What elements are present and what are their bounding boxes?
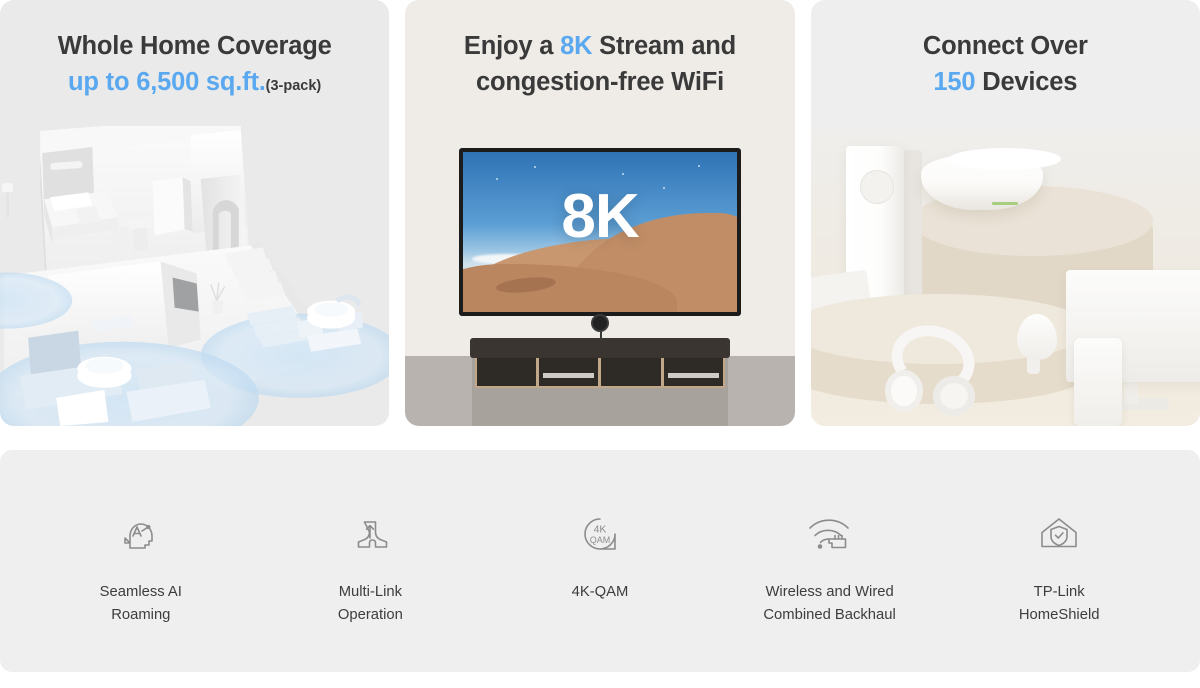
card-2-heading-line2: congestion-free WiFi (405, 64, 794, 100)
card-1-heading: Whole Home Coverage up to 6,500 sq.ft.(3… (0, 0, 389, 100)
smartphone-device (1074, 338, 1122, 426)
card-connect-devices[interactable]: Connect Over 150 Devices (811, 0, 1200, 426)
game-console-side (904, 150, 922, 311)
router-led-indicator (992, 202, 1018, 205)
headphone-earcup (933, 376, 975, 416)
feature-tp-link-homeshield[interactable]: TP-Link HomeShield (944, 506, 1174, 628)
feature-label-line2: Combined Backhaul (763, 604, 895, 627)
console-cubby (664, 357, 723, 386)
devices-illustration (811, 126, 1200, 426)
feature-card-row: Whole Home Coverage up to 6,500 sq.ft.(3… (0, 0, 1200, 426)
console-cubby (539, 357, 598, 386)
badge-bottom-text: QAM (590, 535, 611, 545)
feature-label-line1: TP-Link (1019, 581, 1100, 604)
feature-combined-backhaul[interactable]: Wireless and Wired Combined Backhaul (715, 506, 945, 628)
card-8k-stream[interactable]: Enjoy a 8K Stream and congestion-free Wi… (405, 0, 794, 426)
feature-label-line1: Seamless AI (100, 581, 182, 604)
card-2-text-after: Stream and (592, 32, 736, 60)
card-3-devices-text: Devices (975, 68, 1077, 96)
feature-label-line2: Roaming (100, 604, 182, 627)
feature-4k-qam[interactable]: 4K QAM 4K-QAM (485, 506, 715, 604)
feature-label: 4K-QAM (572, 581, 629, 604)
product-feature-page: Whole Home Coverage up to 6,500 sq.ft.(3… (0, 0, 1200, 688)
tv-screen: 8K (463, 152, 736, 312)
card-3-heading: Connect Over 150 Devices (811, 0, 1200, 100)
card-1-heading-line2: up to 6,500 sq.ft.(3-pack) (0, 64, 389, 100)
feature-seamless-ai-roaming[interactable]: Seamless AI Roaming (26, 506, 256, 628)
screen-resolution-label: 8K (463, 186, 736, 248)
console-cubby (477, 357, 536, 386)
card-whole-home-coverage[interactable]: Whole Home Coverage up to 6,500 sq.ft.(3… (0, 0, 389, 426)
feature-label: TP-Link HomeShield (1019, 581, 1100, 628)
card-3-heading-line1: Connect Over (811, 28, 1200, 64)
card-2-accent-text: 8K (560, 32, 592, 60)
headphone-earcup (885, 370, 923, 412)
feature-label: Seamless AI Roaming (100, 581, 182, 628)
tv-camera-icon (591, 314, 609, 332)
card-1-pack-note: (3-pack) (266, 78, 322, 94)
card-2-heading: Enjoy a 8K Stream and congestion-free Wi… (405, 0, 794, 100)
card-3-heading-line2: 150 Devices (811, 64, 1200, 100)
multi-link-merge-icon (342, 506, 398, 562)
tv-illustration: 8K (405, 126, 794, 426)
soundbar (470, 338, 729, 358)
router-top-surface (949, 148, 1061, 170)
wifi-ethernet-icon (802, 506, 858, 562)
feature-label: Multi-Link Operation (338, 581, 403, 628)
feature-label-line1: 4K-QAM (572, 581, 629, 604)
badge-top-text: 4K (594, 524, 607, 536)
headphones-device (885, 326, 983, 410)
console-shelf-row (475, 355, 724, 388)
tv-bezel: 8K (459, 148, 740, 316)
card-3-accent-text: 150 (933, 68, 975, 96)
console-cubby (601, 357, 660, 386)
feature-label-line2: HomeShield (1019, 604, 1100, 627)
console-vent-icon (860, 170, 894, 204)
feature-label-line2: Operation (338, 604, 403, 627)
isometric-house-illustration (0, 126, 389, 426)
card-2-text-before: Enjoy a (464, 32, 560, 60)
feature-label: Wireless and Wired Combined Backhaul (763, 581, 895, 628)
feature-multi-link-operation[interactable]: Multi-Link Operation (256, 506, 486, 628)
card-1-heading-line1: Whole Home Coverage (0, 28, 389, 64)
card-2-heading-line1: Enjoy a 8K Stream and (405, 28, 794, 64)
card-1-accent-text: up to 6,500 sq.ft. (68, 68, 266, 96)
home-shield-check-icon (1031, 506, 1087, 562)
feature-label-line1: Multi-Link (338, 581, 403, 604)
feature-highlights-bar: Seamless AI Roaming Multi-Link Operation (0, 450, 1200, 672)
ai-head-icon (113, 506, 169, 562)
smart-bulb-device (1017, 314, 1057, 360)
feature-label-line1: Wireless and Wired (763, 581, 895, 604)
4k-qam-badge-icon: 4K QAM (572, 506, 628, 562)
